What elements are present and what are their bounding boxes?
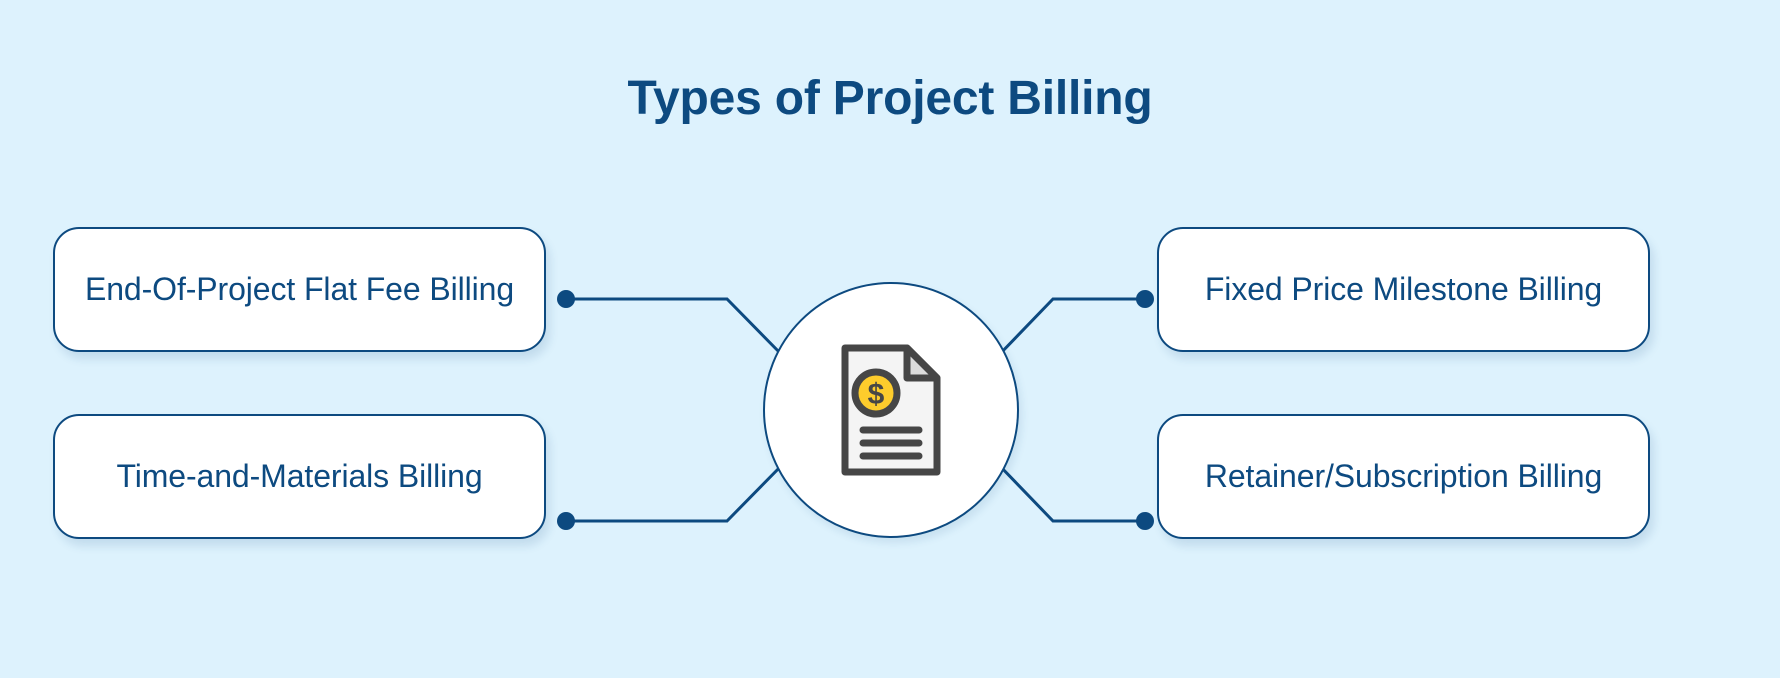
connector-top-left bbox=[557, 290, 784, 357]
document-fold-corner bbox=[907, 348, 937, 378]
node-label: End-Of-Project Flat Fee Billing bbox=[85, 268, 514, 310]
connector-path-bottom-left bbox=[566, 463, 784, 521]
diagram-canvas: Types of Project Billing End-Of-Project … bbox=[0, 0, 1780, 678]
node-label: Time-and-Materials Billing bbox=[116, 455, 482, 497]
connector-top-right bbox=[997, 290, 1154, 357]
connector-dot-top-right bbox=[1136, 290, 1154, 308]
invoice-document-dollar-icon: $ bbox=[841, 344, 941, 476]
connector-bottom-right bbox=[997, 463, 1154, 530]
node-label: Fixed Price Milestone Billing bbox=[1205, 268, 1602, 310]
connector-path-top-right bbox=[997, 299, 1145, 357]
node-fixed-price-milestone-billing[interactable]: Fixed Price Milestone Billing bbox=[1157, 227, 1650, 352]
connector-dot-top-left bbox=[557, 290, 575, 308]
node-label: Retainer/Subscription Billing bbox=[1205, 455, 1602, 497]
connector-dot-bottom-left bbox=[557, 512, 575, 530]
center-hub: $ bbox=[763, 282, 1019, 538]
node-retainer-subscription-billing[interactable]: Retainer/Subscription Billing bbox=[1157, 414, 1650, 539]
connector-bottom-left bbox=[557, 463, 784, 530]
connector-path-top-left bbox=[566, 299, 784, 357]
dollar-sign-glyph: $ bbox=[868, 378, 885, 411]
page-title: Types of Project Billing bbox=[0, 70, 1780, 128]
node-end-of-project-flat-fee-billing[interactable]: End-Of-Project Flat Fee Billing bbox=[53, 227, 546, 352]
node-time-and-materials-billing[interactable]: Time-and-Materials Billing bbox=[53, 414, 546, 539]
connector-path-bottom-right bbox=[997, 463, 1145, 521]
connector-dot-bottom-right bbox=[1136, 512, 1154, 530]
